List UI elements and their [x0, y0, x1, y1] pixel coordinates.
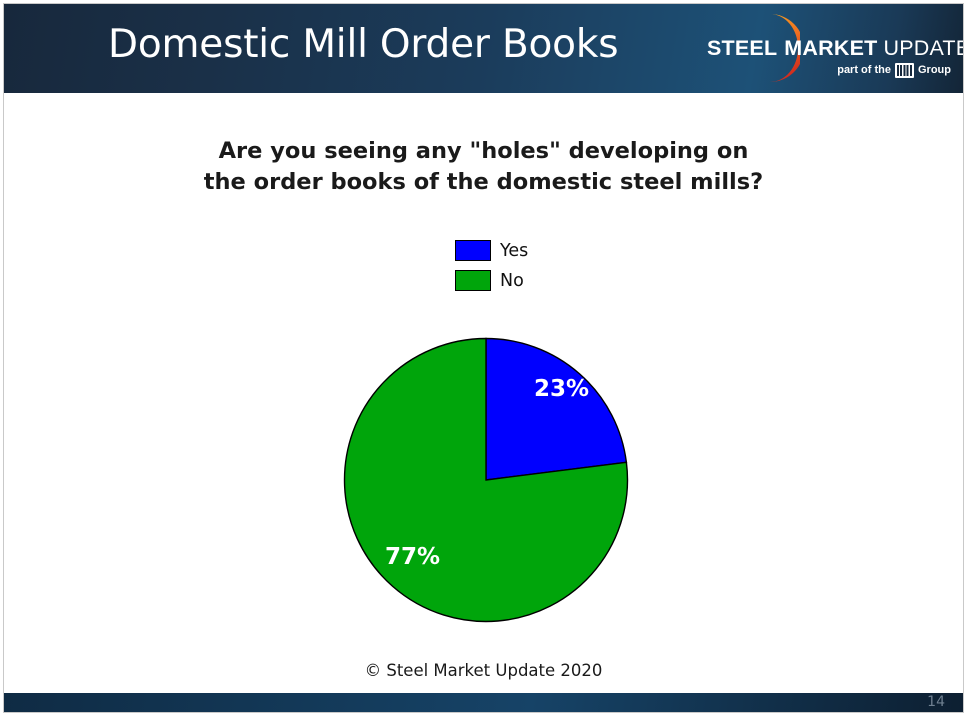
logo-sub-suffix: Group	[918, 64, 951, 76]
logo-word-steel: STEEL	[707, 36, 777, 60]
cru-badge-icon	[895, 63, 914, 78]
steel-market-update-logo: STEELMARKETUPDATE part of the Group	[707, 10, 955, 88]
legend-swatch-no	[455, 270, 491, 291]
copyright-credit: © Steel Market Update 2020	[4, 661, 963, 680]
pie-value-label-no: 77%	[385, 544, 440, 570]
chart-title-line-2: the order books of the domestic steel mi…	[4, 167, 963, 198]
legend-item-yes[interactable]: Yes	[455, 238, 655, 263]
logo-sub-prefix: part of the	[837, 64, 891, 76]
slide: Domestic Mill Order Books STEELMARKETUPD…	[0, 0, 967, 716]
chart-area: Are you seeing any "holes" developing on…	[4, 93, 963, 691]
legend-item-no[interactable]: No	[455, 268, 655, 293]
legend-label-yes: Yes	[500, 241, 528, 261]
logo-wordmark: STEELMARKETUPDATE	[707, 36, 955, 60]
chart-title-line-1: Are you seeing any "holes" developing on	[4, 136, 963, 167]
page-number: 14	[927, 694, 945, 710]
chart-legend: Yes No	[455, 238, 655, 298]
legend-swatch-yes	[455, 240, 491, 261]
slide-bottom-bar: 14	[4, 693, 963, 713]
pie-value-label-yes: 23%	[534, 376, 589, 402]
logo-subtitle: part of the Group	[837, 62, 951, 78]
pie-chart: 23% 77%	[342, 336, 630, 624]
pie-slice-yes[interactable]	[486, 339, 626, 481]
chart-title: Are you seeing any "holes" developing on…	[4, 136, 963, 198]
bottom-bar-fill	[4, 693, 963, 713]
slide-header: Domestic Mill Order Books STEELMARKETUPD…	[4, 4, 963, 93]
page-title: Domestic Mill Order Books	[108, 22, 618, 67]
legend-label-no: No	[500, 271, 524, 291]
logo-word-market: MARKET	[784, 36, 877, 60]
logo-word-update: UPDATE	[883, 36, 963, 60]
